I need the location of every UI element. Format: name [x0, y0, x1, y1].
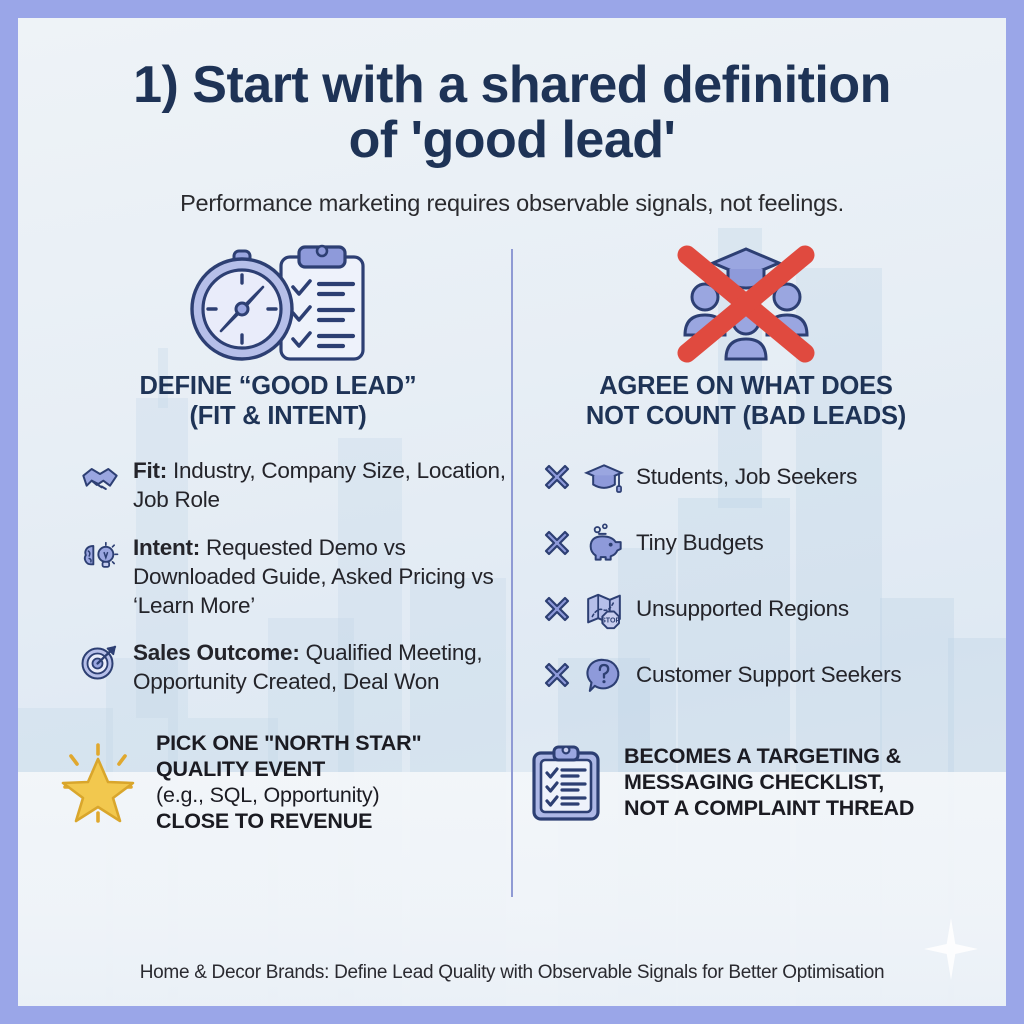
left-heading-line-1: DEFINE “GOOD LEAD” — [50, 371, 506, 401]
north-star-line-2: QUALITY EVENT — [156, 757, 421, 783]
list-item: Tiny Budgets — [518, 523, 974, 563]
list-item-text: Unsupported Regions — [636, 596, 849, 622]
list-item-text: Fit: Industry, Company Size, Location, J… — [133, 457, 506, 515]
brain-lightbulb-icon — [80, 536, 120, 576]
glowing-star-icon — [56, 741, 140, 825]
infographic-card: 1) Start with a shared definition of 'go… — [18, 18, 1006, 1006]
clipboard-checklist-icon — [524, 741, 608, 825]
right-heading-line-1: AGREE ON WHAT DOES — [518, 371, 974, 401]
footer-caption: Home & Decor Brands: Define Lead Quality… — [18, 962, 1006, 984]
title-line-1: 1) Start with a shared definition — [44, 58, 980, 113]
list-item: STOP Unsupported Regions — [518, 589, 974, 629]
x-mark-icon — [542, 528, 572, 558]
handshake-icon — [80, 459, 120, 499]
checklist-panel: BECOMES A TARGETING & MESSAGING CHECKLIS… — [512, 731, 980, 834]
two-column-section: DEFINE “GOOD LEAD” (FIT & INTENT) Fit: I… — [44, 243, 980, 721]
page-subtitle: Performance marketing requires observabl… — [44, 190, 980, 217]
list-item-text: Tiny Budgets — [636, 530, 764, 556]
list-item-text: Customer Support Seekers — [636, 662, 901, 688]
list-item-label: Intent: — [133, 535, 200, 560]
left-heading-line-2: (FIT & INTENT) — [50, 401, 506, 431]
north-star-line-4: CLOSE TO REVENUE — [156, 809, 421, 835]
list-item-text: Intent: Requested Demo vs Downloaded Gui… — [133, 534, 506, 620]
x-mark-icon — [542, 660, 572, 690]
svg-text:STOP: STOP — [601, 617, 620, 625]
list-item: Fit: Industry, Company Size, Location, J… — [50, 457, 506, 515]
list-item: Intent: Requested Demo vs Downloaded Gui… — [50, 534, 506, 620]
left-column: DEFINE “GOOD LEAD” (FIT & INTENT) Fit: I… — [44, 243, 512, 721]
crossed-out-people-graduation-icon — [518, 243, 974, 365]
north-star-line-1: PICK ONE "NORTH STAR" — [156, 731, 421, 757]
piggy-bank-icon — [584, 523, 624, 563]
checklist-line-2: MESSAGING CHECKLIST, — [624, 770, 914, 796]
x-mark-icon — [542, 594, 572, 624]
map-stop-sign-icon: STOP — [584, 589, 624, 629]
list-item: Customer Support Seekers — [518, 655, 974, 695]
checklist-line-1: BECOMES A TARGETING & — [624, 744, 914, 770]
north-star-line-3: (e.g., SQL, Opportunity) — [156, 783, 421, 809]
list-item-text: Sales Outcome: Qualified Meeting, Opport… — [133, 639, 506, 697]
list-item-label: Fit: — [133, 458, 167, 483]
list-item-body: Industry, Company Size, Location, Job Ro… — [133, 458, 506, 512]
page-title: 1) Start with a shared definition of 'go… — [44, 58, 980, 168]
question-speech-bubble-icon — [584, 655, 624, 695]
graduation-cap-icon — [584, 457, 624, 497]
left-column-heading: DEFINE “GOOD LEAD” (FIT & INTENT) — [50, 371, 506, 431]
title-line-2: of 'good lead' — [44, 113, 980, 168]
bottom-panels: PICK ONE "NORTH STAR" QUALITY EVENT (e.g… — [44, 731, 980, 834]
target-arrow-icon — [80, 641, 120, 681]
list-item-label: Sales Outcome: — [133, 640, 300, 665]
list-item: Students, Job Seekers — [518, 457, 974, 497]
north-star-text: PICK ONE "NORTH STAR" QUALITY EVENT (e.g… — [156, 731, 421, 834]
right-column: AGREE ON WHAT DOES NOT COUNT (BAD LEADS) — [512, 243, 980, 721]
left-bullet-list: Fit: Industry, Company Size, Location, J… — [50, 457, 506, 697]
checklist-text: BECOMES A TARGETING & MESSAGING CHECKLIS… — [624, 744, 914, 821]
checklist-line-3: NOT A COMPLAINT THREAD — [624, 796, 914, 822]
x-mark-icon — [542, 462, 572, 492]
right-heading-line-2: NOT COUNT (BAD LEADS) — [518, 401, 974, 431]
list-item-text: Students, Job Seekers — [636, 464, 857, 490]
right-column-heading: AGREE ON WHAT DOES NOT COUNT (BAD LEADS) — [518, 371, 974, 431]
right-bullet-list: Students, Job Seekers — [518, 457, 974, 695]
compass-clipboard-icon — [50, 243, 506, 365]
header: 1) Start with a shared definition of 'go… — [44, 18, 980, 217]
north-star-panel: PICK ONE "NORTH STAR" QUALITY EVENT (e.g… — [44, 731, 512, 834]
list-item: Sales Outcome: Qualified Meeting, Opport… — [50, 639, 506, 697]
